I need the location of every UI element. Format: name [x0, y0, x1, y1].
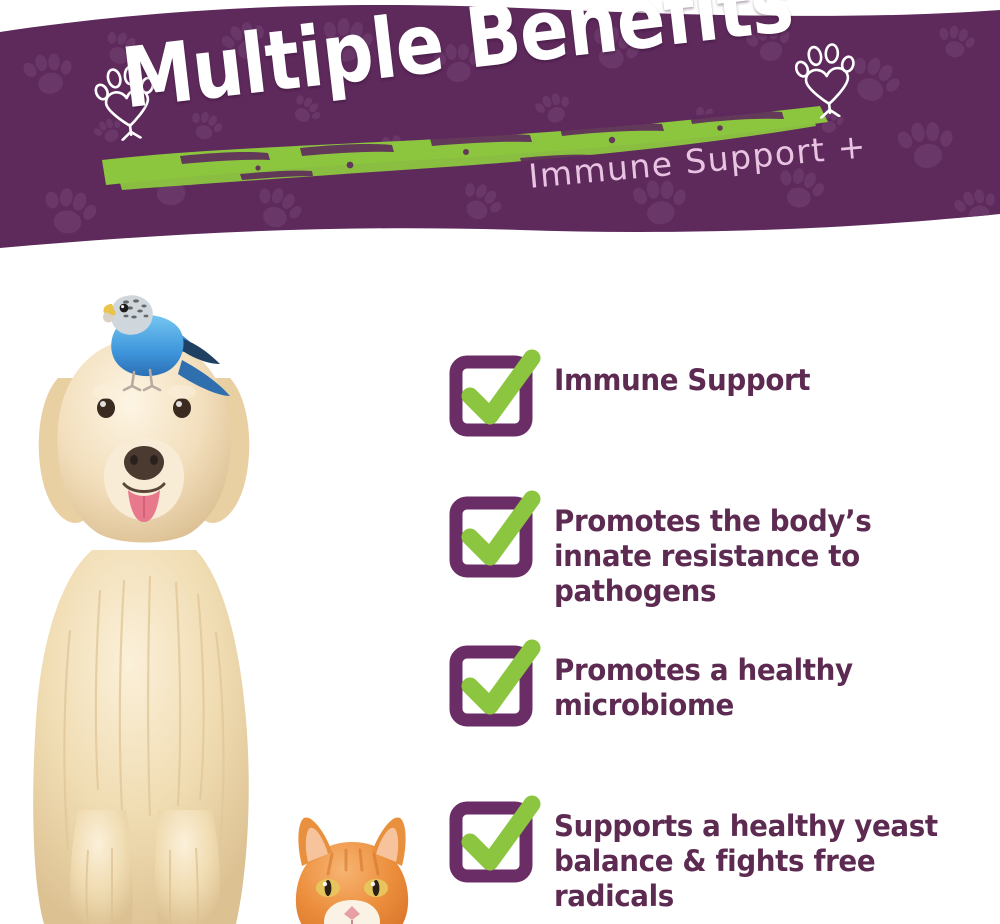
benefit-label: Promotes a healthy microbiome	[554, 640, 949, 723]
pets-illustration	[0, 250, 440, 924]
benefit-item: Promotes a healthy microbiome	[452, 640, 974, 726]
checked-checkbox-icon	[452, 798, 538, 882]
header-banner: Multiple Benefits Immune Support +	[0, 0, 1000, 250]
pets-photo-group	[0, 250, 440, 924]
orange-tabby-cat	[278, 817, 427, 924]
benefit-label: Promotes the body’s innate resistance to…	[554, 491, 949, 608]
benefit-item: Immune Support	[452, 350, 827, 436]
benefit-item: Supports a healthy yeast balance & fight…	[452, 796, 974, 913]
paw-heart-icon	[793, 37, 862, 120]
benefit-label: Supports a healthy yeast balance & fight…	[554, 796, 949, 913]
checked-checkbox-icon	[452, 642, 538, 726]
golden-retriever-dog	[33, 338, 249, 924]
checked-checkbox-icon	[452, 493, 538, 577]
product-benefits-infographic: Multiple Benefits Immune Support +	[0, 0, 1000, 924]
benefit-label: Immune Support	[554, 350, 810, 398]
checked-checkbox-icon	[452, 352, 538, 436]
benefit-item: Promotes the body’s innate resistance to…	[452, 491, 974, 608]
